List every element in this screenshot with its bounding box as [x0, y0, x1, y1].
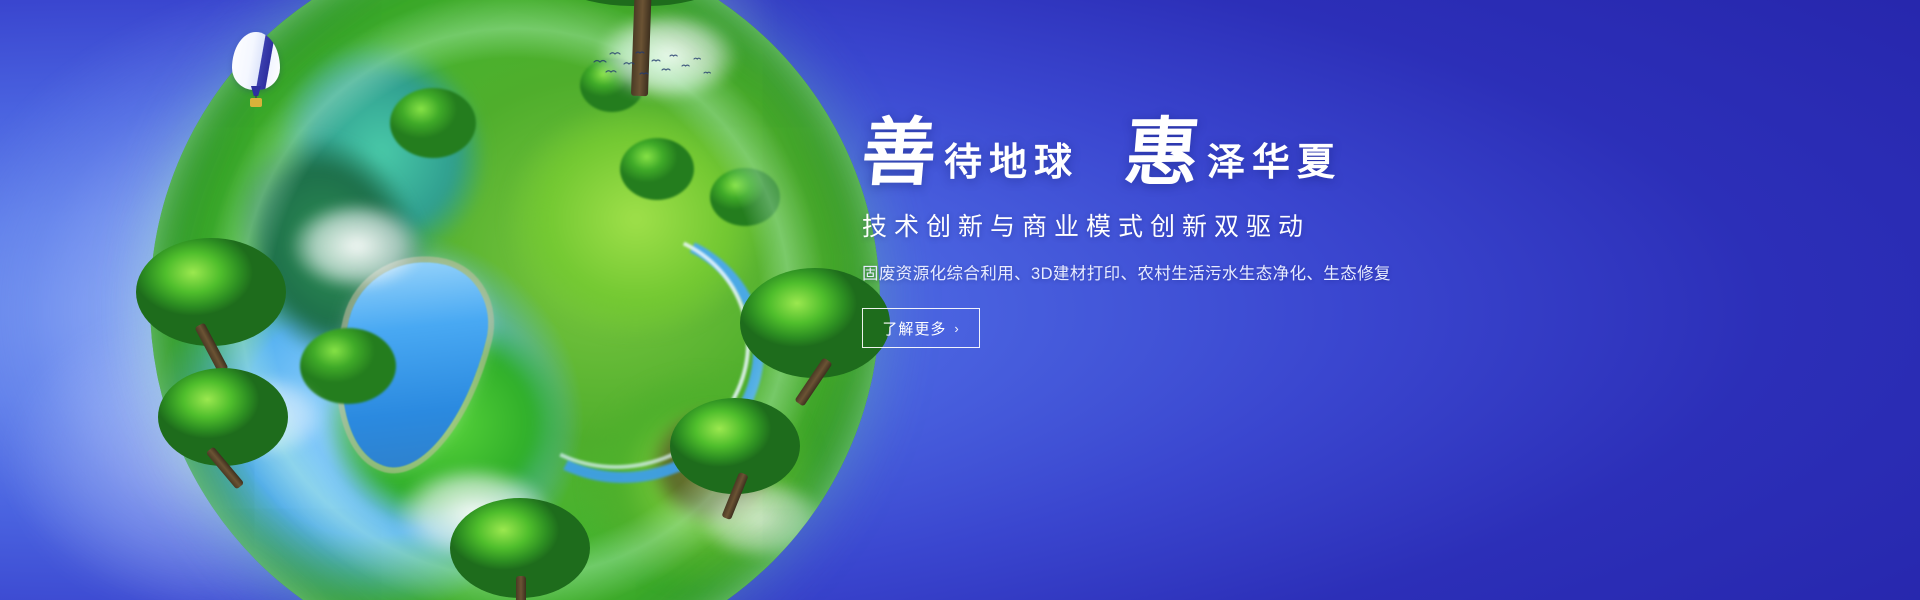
headline-plain-1: 待地球: [936, 143, 1079, 189]
hero-subtitle: 技术创新与商业模式创新双驱动: [862, 207, 1622, 243]
tree: [670, 398, 800, 518]
tree: [136, 238, 286, 368]
headline-plain-2: 泽华夏: [1199, 143, 1342, 189]
hero-banner: 善 待地球 惠 泽华夏 技术创新与商业模式创新双驱动 固废资源化综合利用、3D建…: [0, 0, 1920, 600]
tree-canopy: [136, 238, 286, 346]
hot-air-balloon-icon: [232, 32, 280, 118]
learn-more-label: 了解更多: [882, 318, 946, 339]
balloon-envelope: [232, 32, 280, 90]
headline-brush-1: 善: [859, 118, 939, 189]
bird-flock-icon: [590, 48, 720, 90]
chevron-right-icon: ›: [954, 321, 959, 336]
tree-trunk: [516, 576, 526, 600]
tree: [158, 368, 288, 488]
learn-more-button[interactable]: 了解更多 ›: [862, 308, 980, 348]
hero-content: 善 待地球 惠 泽华夏 技术创新与商业模式创新双驱动 固废资源化综合利用、3D建…: [862, 118, 1622, 348]
balloon-basket: [250, 98, 262, 107]
tree-canopy: [158, 368, 288, 466]
headline-brush-2: 惠: [1122, 118, 1202, 189]
hero-headline: 善 待地球 惠 泽华夏: [862, 118, 1622, 189]
hero-description: 固废资源化综合利用、3D建材打印、农村生活污水生态净化、生态修复: [862, 260, 1622, 284]
tree: [450, 498, 590, 600]
